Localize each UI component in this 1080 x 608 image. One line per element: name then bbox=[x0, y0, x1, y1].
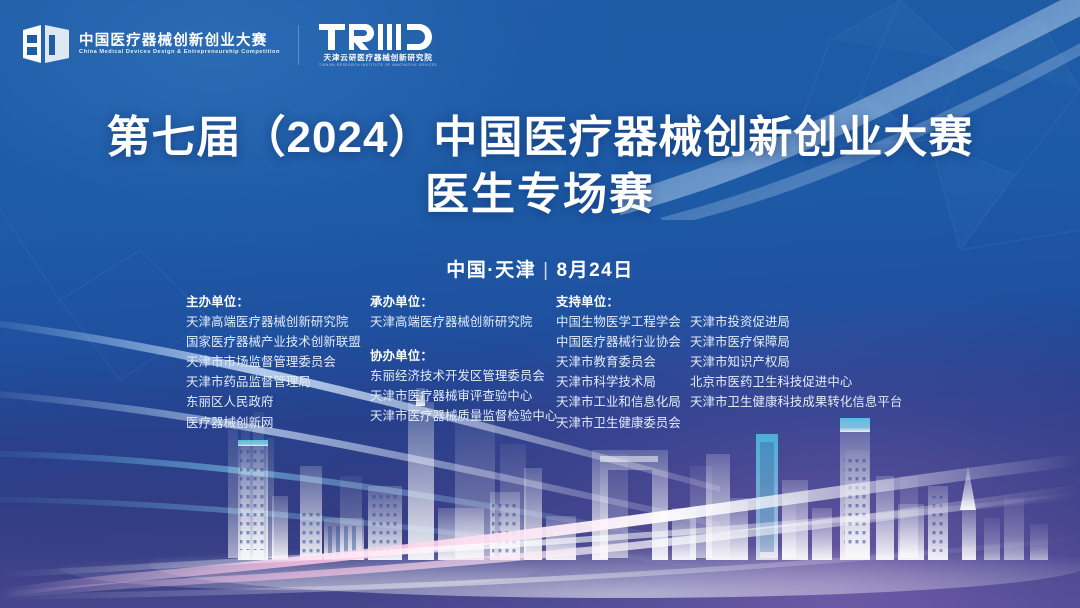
organizers-column-support-a: 支持单位： 中国生物医学工程学会 中国医疗器械行业协会 天津市教育委员会 天津市… bbox=[556, 292, 690, 433]
host-item: 医疗器械创新网 bbox=[186, 413, 370, 433]
poster-canvas: 中国医疗器械创新创业大赛 China Medical Devices Desig… bbox=[0, 0, 1080, 608]
host-item: 天津市药品监督管理局 bbox=[186, 372, 370, 392]
event-date: 8月24日 bbox=[557, 260, 634, 281]
triid-logo-cn: 天津云研医疗器械创新研究院 bbox=[324, 54, 433, 62]
open-door-book-logo-icon bbox=[22, 23, 70, 67]
host-item: 天津高端医疗器械创新研究院 bbox=[186, 312, 370, 332]
subtitle-separator: | bbox=[543, 260, 549, 281]
organizers-block: 主办单位： 天津高端医疗器械创新研究院 国家医疗器械产业技术创新联盟 天津市市场… bbox=[186, 292, 900, 433]
title-line-2: 医生专场赛 bbox=[0, 168, 1080, 222]
host-item: 天津市市场监督管理委员会 bbox=[186, 352, 370, 372]
competition-logo-cn: 中国医疗器械创新创业大赛 bbox=[79, 34, 280, 49]
triid-logo: 天津云研医疗器械创新研究院 TIANJIN RESEARCH INSTITUTE… bbox=[319, 22, 437, 67]
support-heading: 支持单位： bbox=[556, 292, 690, 312]
host-item: 东丽区人民政府 bbox=[186, 392, 370, 412]
competition-logo-en: China Medical Devices Design & Entrepren… bbox=[79, 50, 280, 56]
support-item: 天津市工业和信息化局 bbox=[556, 392, 690, 412]
organizer-item: 天津高端医疗器械创新研究院 bbox=[370, 312, 556, 332]
bottom-glow bbox=[0, 408, 1080, 608]
support-item: 天津市教育委员会 bbox=[556, 352, 690, 372]
coorganizer-heading: 协办单位： bbox=[370, 346, 556, 366]
support-item: 天津市卫生健康委员会 bbox=[556, 413, 690, 433]
support-item: 天津市投资促进局 bbox=[690, 312, 900, 332]
support-item: 北京市医药卫生科技促进中心 bbox=[690, 372, 900, 392]
support-item: 中国生物医学工程学会 bbox=[556, 312, 690, 332]
header-logos: 中国医疗器械创新创业大赛 China Medical Devices Desig… bbox=[22, 22, 437, 67]
column-gap bbox=[370, 332, 556, 346]
support-item: 天津市医疗保障局 bbox=[690, 332, 900, 352]
event-location: 中国·天津 bbox=[446, 260, 536, 281]
organizers-column-support-b: 天津市投资促进局 天津市医疗保障局 天津市知识产权局 北京市医药卫生科技促进中心… bbox=[690, 292, 900, 413]
organizer-heading: 承办单位： bbox=[370, 292, 556, 312]
event-subtitle: 中国·天津|8月24日 bbox=[0, 255, 1080, 282]
host-heading: 主办单位： bbox=[186, 292, 370, 312]
poster-title: 第七届（2024）中国医疗器械创新创业大赛 医生专场赛 bbox=[0, 112, 1080, 222]
title-line-1: 第七届（2024）中国医疗器械创新创业大赛 bbox=[0, 112, 1080, 164]
support-item: 天津市卫生健康科技成果转化信息平台 bbox=[690, 392, 900, 412]
triid-logo-en: TIANJIN RESEARCH INSTITUTE OF INNOVATIVE… bbox=[319, 64, 437, 68]
support-spacer bbox=[690, 292, 900, 312]
coorganizer-item: 东丽经济技术开发区管理委员会 bbox=[370, 366, 556, 386]
support-item: 天津市知识产权局 bbox=[690, 352, 900, 372]
support-item: 中国医疗器械行业协会 bbox=[556, 332, 690, 352]
coorganizer-item: 天津市医疗器械质量监督检验中心 bbox=[370, 406, 556, 426]
organizers-column-host: 主办单位： 天津高端医疗器械创新研究院 国家医疗器械产业技术创新联盟 天津市市场… bbox=[186, 292, 370, 433]
organizers-column-organizer: 承办单位： 天津高端医疗器械创新研究院 协办单位： 东丽经济技术开发区管理委员会… bbox=[370, 292, 556, 427]
host-item: 国家医疗器械产业技术创新联盟 bbox=[186, 332, 370, 352]
support-item: 天津市科学技术局 bbox=[556, 372, 690, 392]
triid-wordmark-icon bbox=[319, 22, 437, 52]
competition-logo: 中国医疗器械创新创业大赛 China Medical Devices Desig… bbox=[22, 23, 280, 67]
logo-divider bbox=[298, 25, 299, 65]
coorganizer-item: 天津市医疗器械审评查验中心 bbox=[370, 386, 556, 406]
